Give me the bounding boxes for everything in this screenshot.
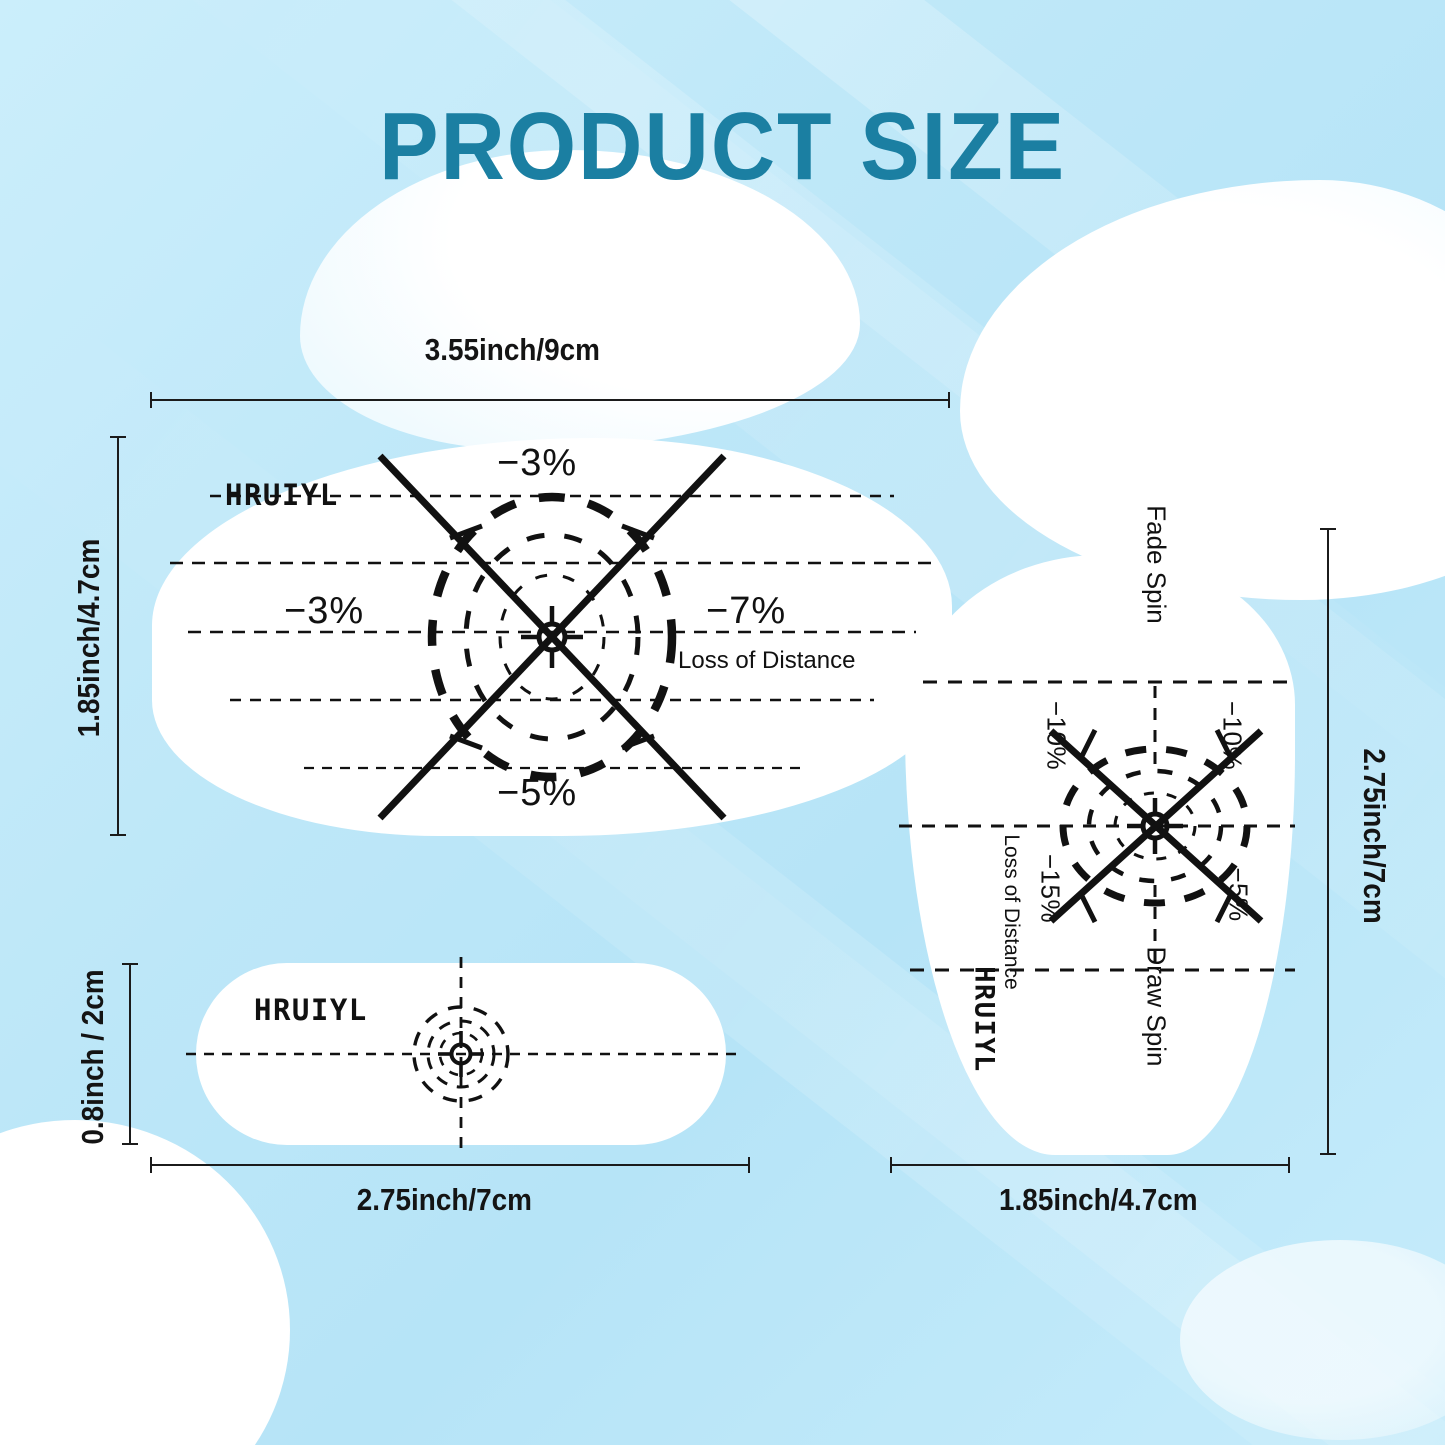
iron-width-label: 1.85inch/4.7cm <box>999 1182 1198 1218</box>
iron-height-dimension-line <box>1320 528 1336 1155</box>
page-title: PRODUCT SIZE <box>51 92 1395 202</box>
product-size-infographic: PRODUCT SIZE 3.55inch/9cm 1.85inch/4.7cm <box>0 0 1445 1445</box>
putter-width-label: 2.75inch/7cm <box>357 1182 532 1218</box>
putter-width-dimension-line <box>150 1157 750 1173</box>
putter-height-dimension-line <box>122 963 138 1145</box>
driver-top-percent-label: −3% <box>497 442 577 485</box>
putter-brand-logo: HRUIYL <box>254 993 368 1027</box>
driver-width-label: 3.55inch/9cm <box>425 332 600 368</box>
iron-height-label: 2.75inch/7cm <box>1356 706 1392 967</box>
driver-loss-of-distance-note: Loss of Distance <box>678 647 855 675</box>
driver-impact-sticker: HRUIYL −3% −3% −7% −5% Loss of Distance <box>152 438 952 836</box>
diagonal-tick <box>1081 894 1095 922</box>
putter-sticker-graphics <box>196 963 726 1145</box>
iron-lower-left-percent-label: −15% <box>1035 844 1066 934</box>
driver-height-dimension-line <box>110 436 126 836</box>
driver-width-dimension-line <box>150 392 950 408</box>
iron-impact-sticker: Fade Spin Draw Spin Loss of Distance HRU… <box>905 555 1295 1155</box>
driver-brand-logo: HRUIYL <box>225 478 339 512</box>
iron-upper-right-percent-label: −10% <box>1217 691 1248 781</box>
driver-left-percent-label: −3% <box>284 590 364 633</box>
iron-draw-spin-label: Draw Spin <box>1141 937 1172 1077</box>
iron-fade-spin-label: Fade Spin <box>1141 495 1172 635</box>
iron-width-dimension-line <box>890 1157 1290 1173</box>
driver-height-label: 1.85inch/4.7cm <box>71 494 107 782</box>
driver-right-percent-label: −7% <box>706 590 786 633</box>
iron-brand-logo: HRUIYL <box>969 960 1000 1080</box>
driver-bottom-percent-label: −5% <box>497 772 577 815</box>
diagonal-tick <box>1081 730 1095 758</box>
iron-loss-of-distance-note: Loss of Distance <box>999 827 1023 997</box>
putter-height-label: 0.8inch / 2cm <box>75 936 111 1179</box>
putter-impact-sticker: HRUIYL <box>196 963 726 1145</box>
iron-lower-right-percent-label: −5% <box>1223 850 1254 940</box>
iron-upper-left-percent-label: −10% <box>1041 691 1072 781</box>
